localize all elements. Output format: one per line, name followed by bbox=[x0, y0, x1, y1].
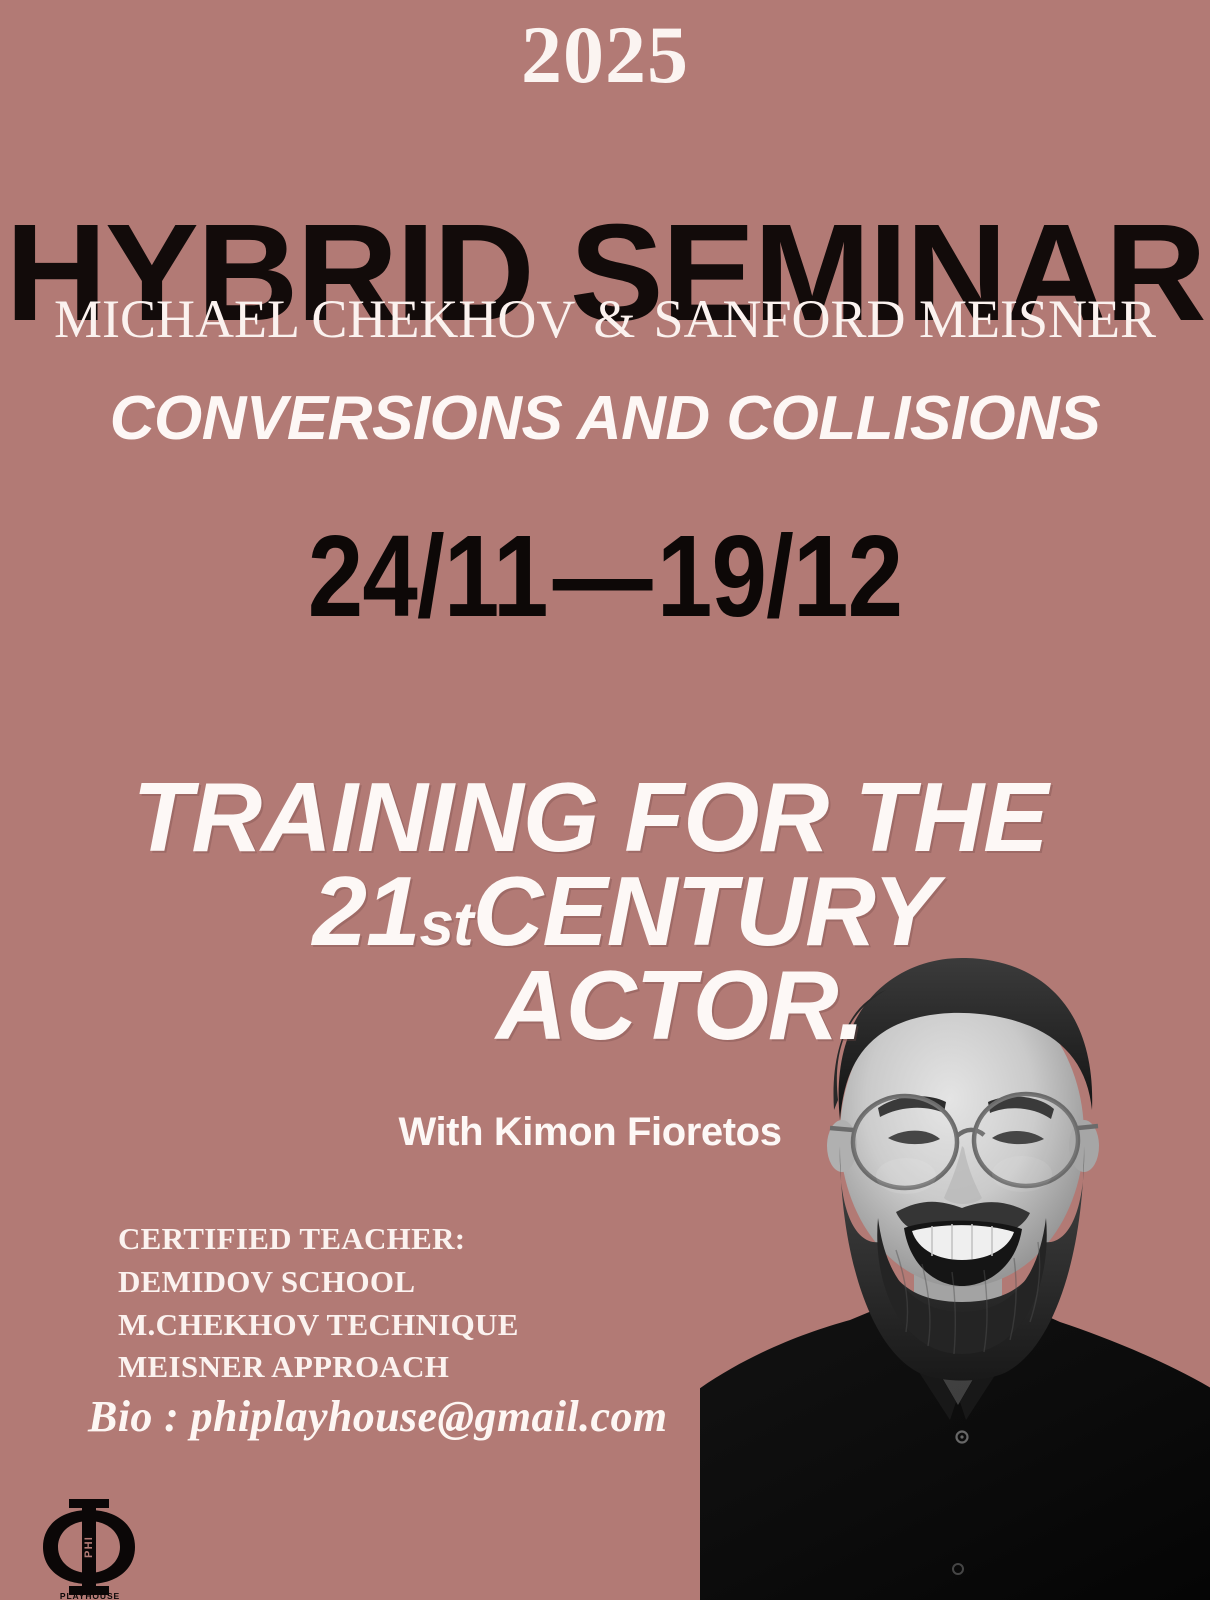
credentials-block: CERTIFIED TEACHER: DEMIDOV SCHOOL M.CHEK… bbox=[118, 1218, 519, 1389]
date-end: 19/12 bbox=[657, 511, 902, 641]
date-separator-dash: — bbox=[548, 511, 657, 641]
date-range: 24/11—19/12 bbox=[85, 518, 1126, 634]
poster-canvas: 2025 HYBRID SEMINAR MICHAEL CHEKHOV&SANF… bbox=[0, 0, 1210, 1600]
credential-item: MEISNER APPROACH bbox=[118, 1346, 519, 1389]
credentials-heading: CERTIFIED TEACHER: bbox=[118, 1218, 519, 1261]
phi-playhouse-logo[interactable]: PHI PLAYHOUSE bbox=[36, 1494, 144, 1600]
headline-block: TRAINING FOR THE 21stCENTURY ACTOR. bbox=[0, 770, 1210, 1052]
logo-wordmark-text: PLAYHOUSE bbox=[60, 1591, 120, 1600]
contact-email-line[interactable]: Bio : phiplayhouse@gmail.com bbox=[88, 1395, 668, 1439]
teacher-separator: & bbox=[575, 289, 653, 349]
headline-line-3: ACTOR. bbox=[0, 958, 1210, 1052]
presenter-name: With Kimon Fioretos bbox=[0, 1112, 1210, 1152]
year-label: 2025 bbox=[0, 14, 1210, 96]
logo-inner-phi-text: PHI bbox=[83, 1536, 95, 1558]
headline-ordinal-number: 21 bbox=[312, 856, 419, 966]
teachers-line: MICHAEL CHEKHOV&SANFORD MEISNER bbox=[0, 292, 1210, 346]
teacher-name-right: SANFORD MEISNER bbox=[653, 289, 1156, 349]
seminar-subtitle: CONVERSIONS AND COLLISIONS bbox=[0, 388, 1210, 450]
headline-ordinal-suffix: st bbox=[419, 890, 472, 959]
date-start: 24/11 bbox=[308, 511, 548, 641]
headline-line-2: 21stCENTURY bbox=[0, 864, 1210, 958]
headline-line-1: TRAINING FOR THE bbox=[0, 770, 1210, 864]
credential-item: DEMIDOV SCHOOL bbox=[118, 1261, 519, 1304]
teacher-name-left: MICHAEL CHEKHOV bbox=[54, 289, 575, 349]
credential-item: M.CHEKHOV TECHNIQUE bbox=[118, 1304, 519, 1347]
